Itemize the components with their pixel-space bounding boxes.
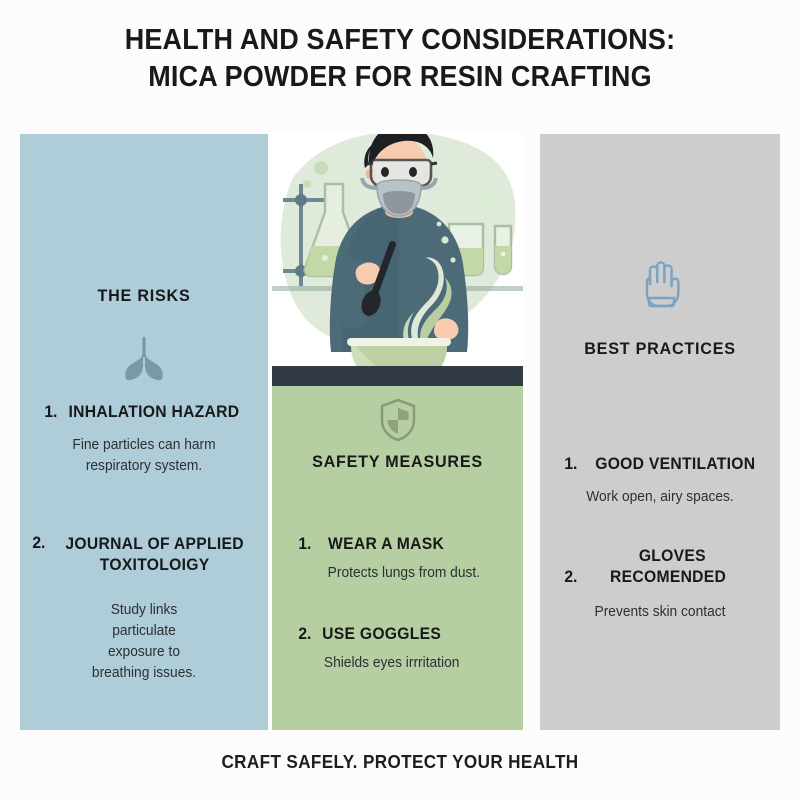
- risks-heading: THE RISKS: [26, 286, 262, 306]
- practice-item-1-title-row: 1. GOOD VENTILATION: [550, 454, 770, 475]
- practice-item-2-title-row: 2. RECOMENDED: [550, 567, 770, 588]
- safety-item-2-number: 2.: [298, 625, 311, 644]
- best-practices-heading: BEST PRACTICES: [546, 339, 774, 359]
- safety-item-2-desc: Shields eyes irrritation: [293, 653, 501, 674]
- glove-icon: [540, 256, 780, 316]
- practice-item-2-title-line2: RECOMENDED: [610, 567, 726, 588]
- practice-item-2-title-line1: GLOVES: [556, 546, 765, 567]
- countertop-bar: [272, 372, 523, 386]
- safety-item-2-title-row: 2. USE GOGGLES: [288, 624, 507, 645]
- risk-item-2-number: 2.: [32, 534, 45, 553]
- infographic-canvas: HEALTH AND SAFETY CONSIDERATIONS: MICA P…: [0, 0, 800, 800]
- risk-item-2-desc: Study links particulate exposure to brea…: [38, 600, 251, 684]
- footer-tagline: CRAFT SAFELY. PROTECT YOUR HEALTH: [20, 752, 780, 773]
- practice-item-2: GLOVES 2. RECOMENDED Prevents skin conta…: [540, 546, 780, 623]
- safety-heading: SAFETY MEASURES: [278, 452, 516, 472]
- risk-item-2-title-row: 2. JOURNAL OF APPLIED TOXITOLOIGY: [32, 534, 256, 576]
- safety-item-1-title: WEAR A MASK: [328, 534, 444, 555]
- safety-item-2-title: USE GOGGLES: [322, 624, 441, 645]
- practice-item-1-title: GOOD VENTILATION: [595, 454, 755, 475]
- risk-item-2-title: JOURNAL OF APPLIED TOXITOLOIGY: [58, 534, 251, 576]
- safety-measures-body: SAFETY MEASURES 1. WEAR A MASK Protects …: [272, 384, 523, 730]
- practice-item-1: 1. GOOD VENTILATION Work open, airy spac…: [540, 454, 780, 508]
- shield-icon: [272, 396, 523, 444]
- risk-item-1-title-row: 1. INHALATION HAZARD: [34, 402, 254, 423]
- risk-item-1-title: INHALATION HAZARD: [69, 402, 240, 423]
- title-line-2: MICA POWDER FOR RESIN CRAFTING: [28, 59, 772, 96]
- practice-item-2-number: 2.: [564, 568, 577, 587]
- page-title: HEALTH AND SAFETY CONSIDERATIONS: MICA P…: [0, 22, 800, 96]
- lungs-icon: [20, 330, 268, 386]
- practice-item-1-desc: Work open, airy spaces.: [556, 487, 765, 508]
- practice-item-1-number: 1.: [564, 455, 577, 474]
- illustration-backdrop: [272, 134, 523, 384]
- safety-item-1: 1. WEAR A MASK Protects lungs from dust.: [272, 534, 523, 584]
- safety-item-1-title-row: 1. WEAR A MASK: [288, 534, 507, 555]
- risk-item-1-number: 1.: [44, 403, 57, 422]
- practice-item-2-desc: Prevents skin contact: [556, 602, 765, 623]
- safety-item-2: 2. USE GOGGLES Shields eyes irrritation: [272, 624, 523, 674]
- safety-measures-panel: SAFETY MEASURES 1. WEAR A MASK Protects …: [272, 134, 523, 730]
- title-line-1: HEALTH AND SAFETY CONSIDERATIONS:: [28, 22, 772, 59]
- risk-item-1: 1. INHALATION HAZARD Fine particles can …: [20, 402, 268, 477]
- safety-item-1-desc: Protects lungs from dust.: [293, 563, 501, 584]
- risks-panel: THE RISKS 1. INHALATION HAZARD Fine part…: [20, 134, 268, 730]
- risk-item-1-desc: Fine particles can harm respiratory syst…: [40, 435, 249, 477]
- safety-item-1-number: 1.: [298, 535, 311, 554]
- risk-item-2: 2. JOURNAL OF APPLIED TOXITOLOIGY Study …: [20, 534, 268, 684]
- best-practices-panel: BEST PRACTICES 1. GOOD VENTILATION Work …: [540, 134, 780, 730]
